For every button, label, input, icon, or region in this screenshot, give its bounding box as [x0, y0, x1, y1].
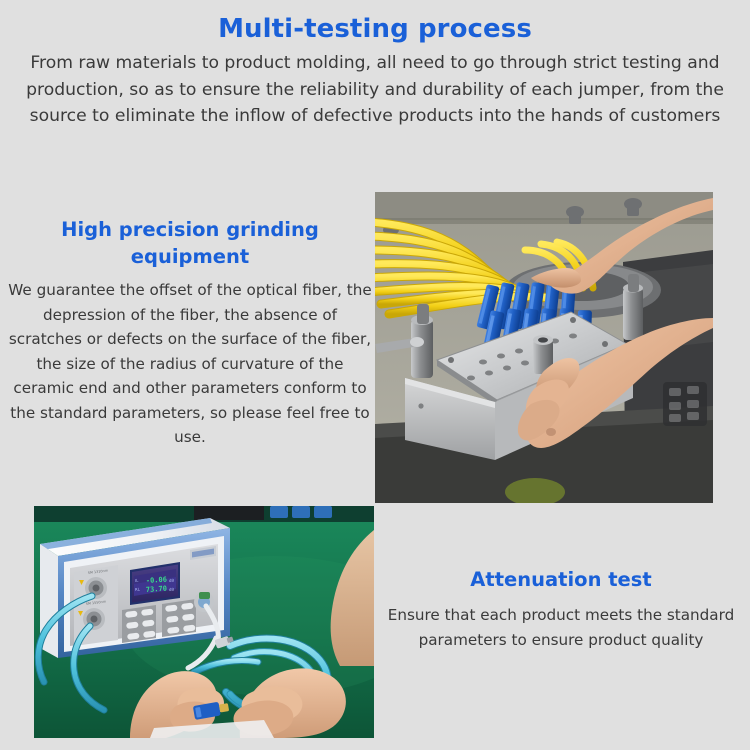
promo-page: Multi-testing process From raw materials… [0, 0, 750, 750]
lcd-unit-bottom: dB [169, 587, 175, 592]
grinding-body: We guarantee the offset of the optical f… [8, 278, 372, 450]
lcd-unit-top: dB [169, 578, 175, 583]
grinding-text-block: High precision grinding equipment We gua… [8, 216, 372, 450]
page-title: Multi-testing process [0, 12, 750, 46]
attenuation-heading: Attenuation test [385, 566, 737, 593]
lcd-reading-bottom: 73.70 [146, 585, 168, 594]
grinding-equipment-photo [375, 192, 713, 503]
attenuation-body: Ensure that each product meets the stand… [385, 603, 737, 652]
attenuation-text-block: Attenuation test Ensure that each produc… [385, 566, 737, 652]
attenuation-test-photo: -0.06 73.70 IL RL dB dB [34, 506, 374, 738]
page-header: Multi-testing process From raw materials… [0, 0, 750, 130]
grinding-heading: High precision grinding equipment [8, 216, 372, 270]
intro-paragraph: From raw materials to product molding, a… [22, 50, 728, 130]
lcd-reading-top: -0.06 [146, 576, 168, 585]
